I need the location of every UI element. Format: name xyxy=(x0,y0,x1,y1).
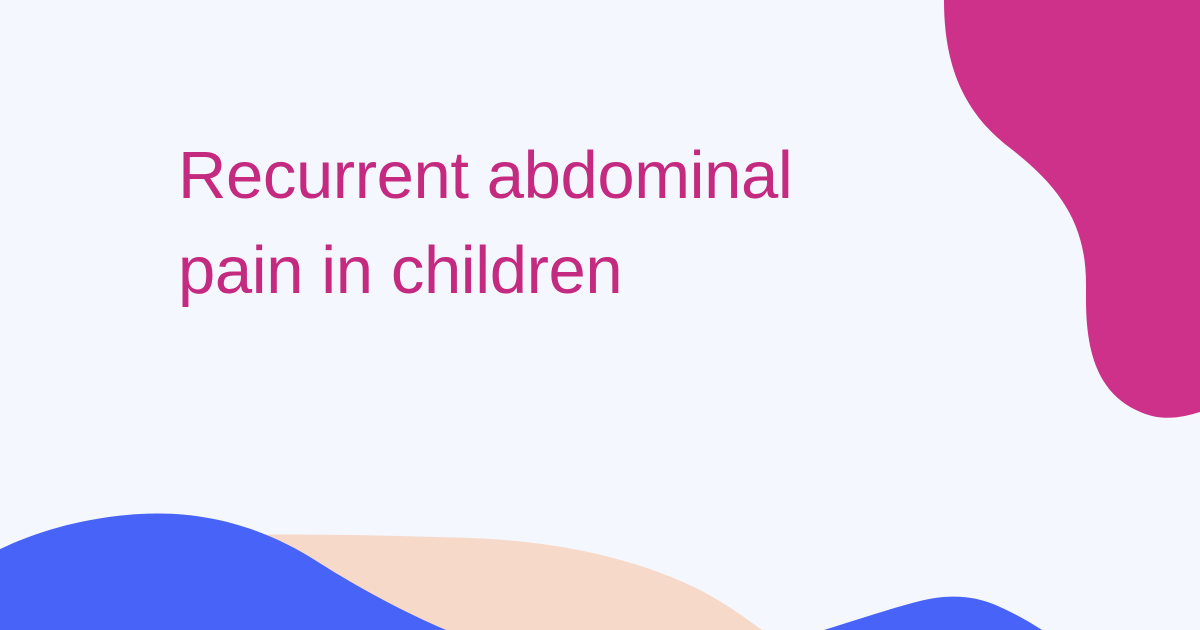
headline-block: Recurrent abdominal pain in children xyxy=(178,128,878,318)
pink-blob-top-right-shape xyxy=(944,0,1200,418)
peach-blob-bottom-center-shape xyxy=(0,535,762,630)
blue-blob-bottom-left-shape xyxy=(0,513,446,630)
blue-blob-bottom-right-shape xyxy=(824,597,1042,630)
share-card: Recurrent abdominal pain in children xyxy=(0,0,1200,630)
page-title: Recurrent abdominal pain in children xyxy=(178,128,878,318)
